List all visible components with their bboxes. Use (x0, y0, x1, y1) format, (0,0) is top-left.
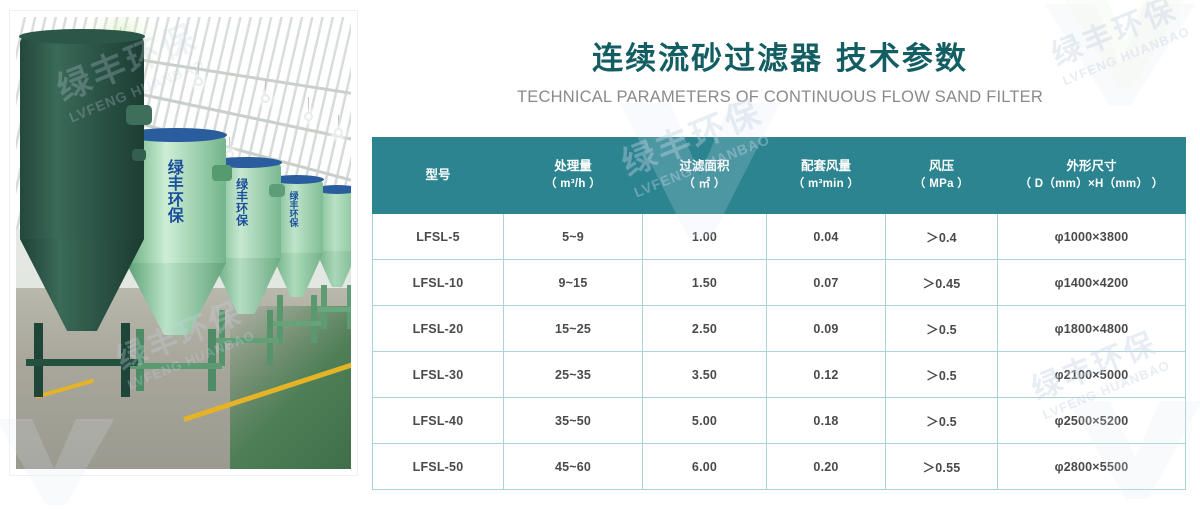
tank-brand-label: 绿丰环保 (288, 191, 297, 227)
col-header-capacity: 处理量 （ m³/h ） (504, 138, 643, 214)
col-unit: （ m³/h ） (506, 176, 640, 194)
col-unit: （ MPa ） (888, 176, 995, 194)
cell-filter-area: 2.50 (643, 306, 767, 352)
tank-brand-label: 绿丰环保 (164, 159, 181, 223)
cell-dimensions: φ2500×5200 (998, 398, 1186, 444)
ceiling-lamp-icon (304, 112, 313, 121)
cell-model: LFSL-40 (373, 398, 504, 444)
lamp-wire (198, 62, 199, 78)
cell-air-pressure: ＞0.55 (886, 444, 998, 490)
tank-crossbar (26, 359, 138, 366)
table-row: LFSL-5 5~9 1.00 0.04 ＞0.4 φ1000×3800 (373, 214, 1186, 260)
col-title: 型号 (425, 168, 450, 182)
table-row: LFSL-20 15~25 2.50 0.09 ＞0.5 φ1800×4800 (373, 306, 1186, 352)
cell-air-volume: 0.09 (767, 306, 886, 352)
col-header-filter-area: 过滤面积 （ ㎡ ） (643, 138, 767, 214)
table-row: LFSL-40 35~50 5.00 0.18 ＞0.5 φ2500×5200 (373, 398, 1186, 444)
table-row: LFSL-30 25~35 3.50 0.12 ＞0.5 φ2100×5000 (373, 352, 1186, 398)
page-title: 连续流砂过滤器 技术参数 (372, 33, 1188, 78)
table-header-row: 型号 处理量 （ m³/h ） 过滤面积 （ ㎡ ） 配套风量 （ m³min … (373, 138, 1186, 214)
cell-air-volume: 0.20 (767, 444, 886, 490)
tank-1 (20, 37, 144, 367)
col-unit: （ D（mm）×H（mm） ） (1000, 176, 1183, 194)
cell-air-volume: 0.12 (767, 352, 886, 398)
page-subtitle: TECHNICAL PARAMETERS OF CONTINUOUS FLOW … (372, 88, 1188, 107)
col-title: 配套风量 (801, 159, 851, 173)
cell-dimensions: φ2100×5000 (998, 352, 1186, 398)
cell-model: LFSL-5 (373, 214, 504, 260)
lamp-wire (308, 97, 309, 113)
cell-filter-area: 5.00 (643, 398, 767, 444)
tank-body (20, 37, 144, 239)
lamp-wire (265, 79, 266, 95)
cell-filter-area: 3.50 (643, 352, 767, 398)
cell-air-pressure: ＞0.5 (886, 306, 998, 352)
cell-capacity: 25~35 (504, 352, 643, 398)
technical-parameters-table: 型号 处理量 （ m³/h ） 过滤面积 （ ㎡ ） 配套风量 （ m³min … (372, 137, 1186, 490)
cell-capacity: 9~15 (504, 260, 643, 306)
col-title: 处理量 (554, 159, 592, 173)
cell-model: LFSL-50 (373, 444, 504, 490)
ceiling-lamp-icon (261, 94, 270, 103)
ceiling-lamp-icon (194, 77, 203, 86)
tank-nozzle (269, 184, 285, 197)
cell-capacity: 35~50 (504, 398, 643, 444)
table-row: LFSL-10 9~15 1.50 0.07 ＞0.45 φ1400×4200 (373, 260, 1186, 306)
col-header-air-pressure: 风压 （ MPa ） (886, 138, 998, 214)
cell-filter-area: 1.00 (643, 214, 767, 260)
lamp-wire (338, 115, 339, 129)
cell-air-pressure: ＞0.5 (886, 398, 998, 444)
tank-cone (20, 239, 144, 331)
cell-model: LFSL-10 (373, 260, 504, 306)
tank-leg (311, 295, 317, 343)
cell-air-pressure: ＞0.4 (886, 214, 998, 260)
col-header-dimensions: 外形尺寸 （ D（mm）×H（mm） ） (998, 138, 1186, 214)
product-photo-panel: 绿丰环保 绿丰环保 绿丰环保 (10, 11, 357, 475)
tank-nozzle (212, 165, 232, 181)
cell-model: LFSL-20 (373, 306, 504, 352)
cell-air-pressure: ＞0.45 (886, 260, 998, 306)
cell-dimensions: φ1400×4200 (998, 260, 1186, 306)
col-title: 过滤面积 (679, 159, 729, 173)
specs-pane: 连续流砂过滤器 技术参数 TECHNICAL PARAMETERS OF CON… (372, 0, 1200, 486)
table-row: LFSL-50 45~60 6.00 0.20 ＞0.55 φ2800×5500 (373, 444, 1186, 490)
cell-air-volume: 0.07 (767, 260, 886, 306)
cell-air-volume: 0.04 (767, 214, 886, 260)
table-body: LFSL-5 5~9 1.00 0.04 ＞0.4 φ1000×3800 LFS… (373, 214, 1186, 490)
cell-capacity: 45~60 (504, 444, 643, 490)
cell-model: LFSL-30 (373, 352, 504, 398)
ceiling-lamp-icon (334, 128, 343, 137)
cell-filter-area: 1.50 (643, 260, 767, 306)
cell-air-pressure: ＞0.5 (886, 352, 998, 398)
col-unit: （ m³min ） (769, 176, 883, 194)
cell-capacity: 5~9 (504, 214, 643, 260)
tank-rim (19, 29, 145, 44)
cell-dimensions: φ1800×4800 (998, 306, 1186, 352)
tank-brand-label: 绿丰环保 (235, 178, 248, 226)
tank-leg (208, 329, 216, 391)
col-unit: （ ㎡ ） (645, 176, 764, 194)
col-header-model: 型号 (373, 138, 504, 214)
cell-capacity: 15~25 (504, 306, 643, 352)
cell-filter-area: 6.00 (643, 444, 767, 490)
col-title: 风压 (929, 159, 954, 173)
cell-dimensions: φ2800×5500 (998, 444, 1186, 490)
col-header-air-volume: 配套风量 （ m³min ） (767, 138, 886, 214)
tank-nozzle (126, 105, 152, 125)
lamp-wire (229, 137, 230, 151)
cell-dimensions: φ1000×3800 (998, 214, 1186, 260)
product-photo: 绿丰环保 绿丰环保 绿丰环保 (16, 17, 351, 469)
col-title: 外形尺寸 (1066, 159, 1116, 173)
cell-air-volume: 0.18 (767, 398, 886, 444)
tank-nozzle (132, 149, 146, 161)
